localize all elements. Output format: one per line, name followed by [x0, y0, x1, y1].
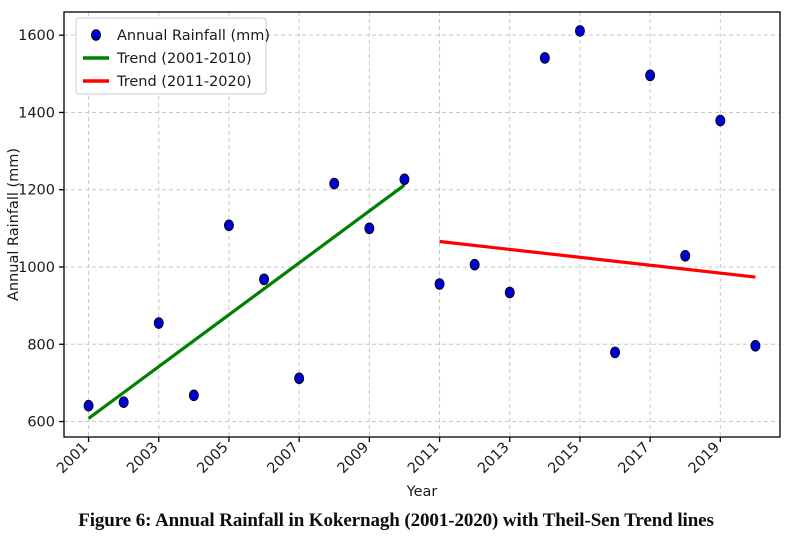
data-point	[646, 70, 655, 81]
y-tick-label: 1200	[18, 183, 55, 199]
data-point	[189, 390, 198, 401]
data-point	[435, 279, 444, 290]
legend-label: Trend (2011-2020)	[116, 74, 252, 90]
data-point	[716, 115, 725, 126]
data-point	[330, 178, 339, 189]
data-point	[224, 220, 233, 231]
data-point	[540, 53, 549, 64]
data-point	[400, 174, 409, 185]
y-axis-title: Annual Rainfall (mm)	[6, 148, 22, 301]
y-tick-label: 1600	[18, 28, 55, 44]
figure-container: 6008001000120014001600 20012003200520072…	[0, 0, 792, 551]
data-point	[119, 397, 128, 408]
legend-label: Annual Rainfall (mm)	[117, 28, 270, 44]
data-point	[470, 259, 479, 270]
legend-label: Trend (2001-2010)	[116, 51, 252, 67]
data-point	[259, 274, 268, 285]
data-point	[610, 347, 619, 358]
data-point	[365, 223, 374, 234]
data-point	[681, 250, 690, 261]
x-axis-title: Year	[406, 484, 438, 500]
y-tick-label: 600	[27, 415, 55, 431]
chart-legend: Annual Rainfall (mm)Trend (2001-2010)Tre…	[76, 18, 270, 94]
y-tick-label: 1400	[18, 105, 55, 121]
data-point	[154, 318, 163, 329]
legend-marker-dot	[91, 30, 100, 41]
y-tick-label: 1000	[18, 260, 55, 276]
data-point	[575, 26, 584, 37]
data-point	[751, 340, 760, 351]
rainfall-scatter-chart: 6008001000120014001600 20012003200520072…	[0, 0, 792, 510]
data-point	[505, 287, 514, 298]
data-point	[295, 373, 304, 384]
data-point	[84, 400, 93, 411]
figure-caption: Figure 6: Annual Rainfall in Kokernagh (…	[0, 510, 792, 532]
y-tick-label: 800	[27, 337, 55, 353]
